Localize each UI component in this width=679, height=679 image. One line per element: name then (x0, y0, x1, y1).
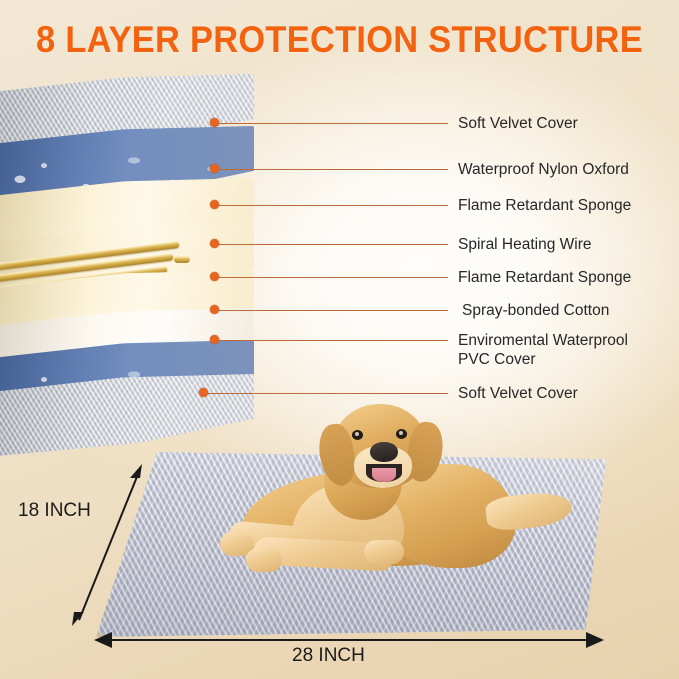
width-dimension-label: 28 INCH (292, 645, 365, 667)
callout-line-2 (218, 169, 448, 170)
width-arrow-line (104, 639, 594, 641)
infographic-page: 8 LAYER PROTECTION STRUCTURE (0, 0, 679, 679)
callout-line-8 (207, 393, 448, 394)
callout-label-6: Spray-bonded Cotton (462, 301, 609, 320)
callout-line-6 (218, 310, 448, 311)
height-arrow-head-bottom (68, 608, 88, 626)
height-arrow-head-top (126, 464, 146, 482)
layer-sheet-velvet-bottom (0, 374, 254, 460)
callout-label-4: Spiral Heating Wire (458, 235, 592, 254)
callout-label-7-line2: PVC Cover (458, 350, 628, 369)
width-arrow-head-left (94, 632, 114, 648)
callout-line-3 (218, 205, 448, 206)
callout-line-1 (218, 123, 448, 124)
callout-line-7 (218, 340, 448, 341)
callout-label-2: Waterproof Nylon Oxford (458, 160, 629, 179)
callout-line-4 (218, 244, 448, 245)
width-arrow-head-right (584, 632, 604, 648)
callout-line-5 (218, 277, 448, 278)
callout-label-1: Soft Velvet Cover (458, 114, 578, 133)
page-title: 8 LAYER PROTECTION STRUCTURE (24, 18, 655, 62)
layer-8-soft-velvet-cover (0, 374, 254, 460)
height-dimension-label: 18 INCH (18, 500, 91, 522)
callout-label-7: Enviromental Waterprool PVC Cover (458, 331, 628, 369)
golden-retriever (236, 398, 586, 608)
callout-label-5: Flame Retardant Sponge (458, 268, 631, 287)
callout-label-3: Flame Retardant Sponge (458, 196, 631, 215)
callout-label-7-line1: Enviromental Waterprool (458, 331, 628, 350)
